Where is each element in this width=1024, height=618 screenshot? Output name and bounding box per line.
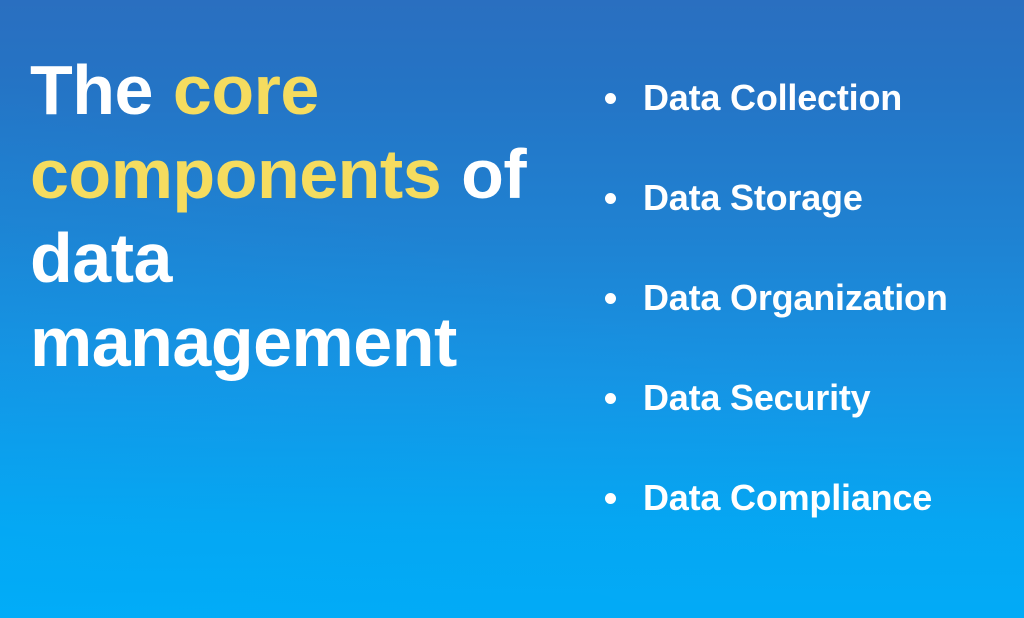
title-segment-plain-lead: The	[30, 51, 173, 129]
list-item-label-data-collection: Data Collection	[643, 77, 902, 119]
bullet-dot-icon	[605, 393, 616, 404]
list-item: Data Storage	[600, 148, 1024, 248]
list-item: Data Compliance	[600, 448, 1024, 548]
list-item: Data Collection	[600, 48, 1024, 148]
list-item-label-data-compliance: Data Compliance	[643, 477, 932, 519]
list-item: Data Organization	[600, 248, 1024, 348]
components-list: Data Collection Data Storage Data Organi…	[600, 48, 1024, 548]
list-item: Data Security	[600, 348, 1024, 448]
bullet-dot-icon	[605, 293, 616, 304]
slide-title: The core components of data management	[30, 48, 550, 384]
bullet-dot-icon	[605, 193, 616, 204]
slide-content: The core components of data management D…	[0, 0, 1024, 618]
list-item-label-data-organization: Data Organization	[643, 277, 948, 319]
list-item-label-data-security: Data Security	[643, 377, 871, 419]
headline-column: The core components of data management	[30, 48, 550, 384]
presentation-slide: The core components of data management D…	[0, 0, 1024, 618]
list-item-label-data-storage: Data Storage	[643, 177, 863, 219]
bullet-dot-icon	[605, 93, 616, 104]
bullet-dot-icon	[605, 493, 616, 504]
